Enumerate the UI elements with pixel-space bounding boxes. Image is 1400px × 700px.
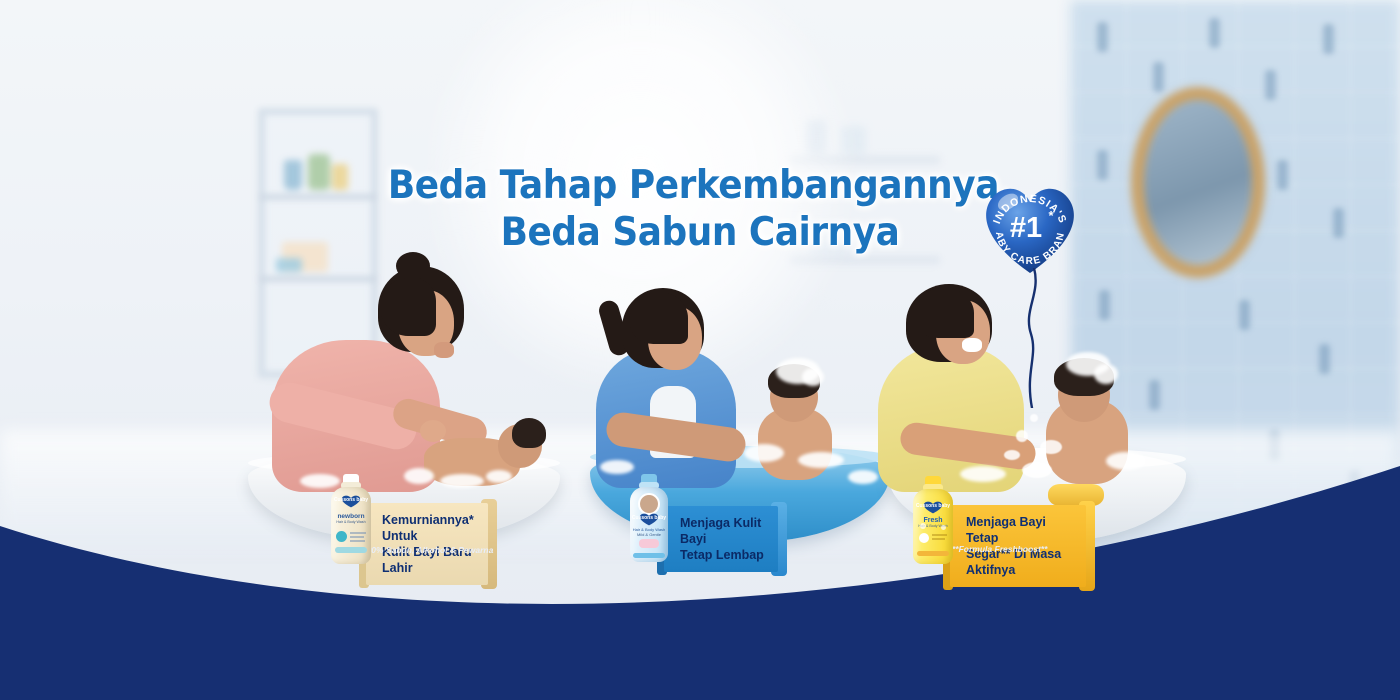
caption-ribbon-newborn: Kemurniannya* Untuk Kulit Bayi Baru Lahi… (366, 503, 488, 585)
product-bottle-newborn[interactable]: Cussons baby newborn Hair & Body Wash (331, 474, 371, 564)
bottle-subvariant-2: Mild & Gentle (630, 533, 668, 538)
product-bottle-fresh[interactable]: Cussons baby Fresh Hair & Body Wash (913, 476, 953, 564)
bottle-brand-1: Cussons baby (331, 497, 371, 503)
bottle-brand-2: Cussons baby (630, 515, 668, 521)
bottle-variant-3: Fresh (913, 517, 953, 524)
balloon-string-icon (1019, 268, 1049, 408)
bottle-brand-3: Cussons baby (913, 503, 953, 509)
bottle-subvariant-3: Hair & Body Wash (913, 524, 953, 529)
bottle-subvariant-1: Hair & Body Wash (331, 520, 371, 525)
caption-ribbon-mild-gentle: Menjaga Kulit Bayi Tetap Lembap (664, 506, 778, 572)
headline: Beda Tahap Perkembangannya, Beda Sabun C… (0, 162, 1400, 256)
yellow-sponge (1048, 484, 1104, 506)
caption-line-1-a: Kemurniannya* Untuk (382, 512, 474, 544)
brand-badge: INDONESIA'S BABY CARE BRAND #1 * (978, 176, 1082, 285)
headline-line-2: Beda Sabun Cairnya (56, 209, 1344, 256)
footnote-fresh: **Formula Freshboost** (952, 544, 1047, 554)
bottle-variant-1: newborn (331, 513, 371, 520)
headline-line-1: Beda Tahap Perkembangannya, (56, 162, 1344, 209)
product-bottle-mild-gentle[interactable]: Cussons baby Hair & Body Wash Mild & Gen… (630, 474, 668, 562)
footnote-newborn: *0% Sabun, Alkohol & Pewarna (368, 545, 493, 555)
badge-rank: #1 (1010, 212, 1042, 244)
heart-balloon-icon: INDONESIA'S BABY CARE BRAND #1 * (978, 176, 1082, 280)
caption-line-2-a: Menjaga Kulit Bayi (680, 515, 764, 547)
caption-line-2-b: Tetap Lembap (680, 547, 764, 563)
caption-line-3-a: Menjaga Bayi Tetap (966, 514, 1072, 546)
promo-banner: Beda Tahap Perkembangannya, Beda Sabun C… (0, 0, 1400, 700)
